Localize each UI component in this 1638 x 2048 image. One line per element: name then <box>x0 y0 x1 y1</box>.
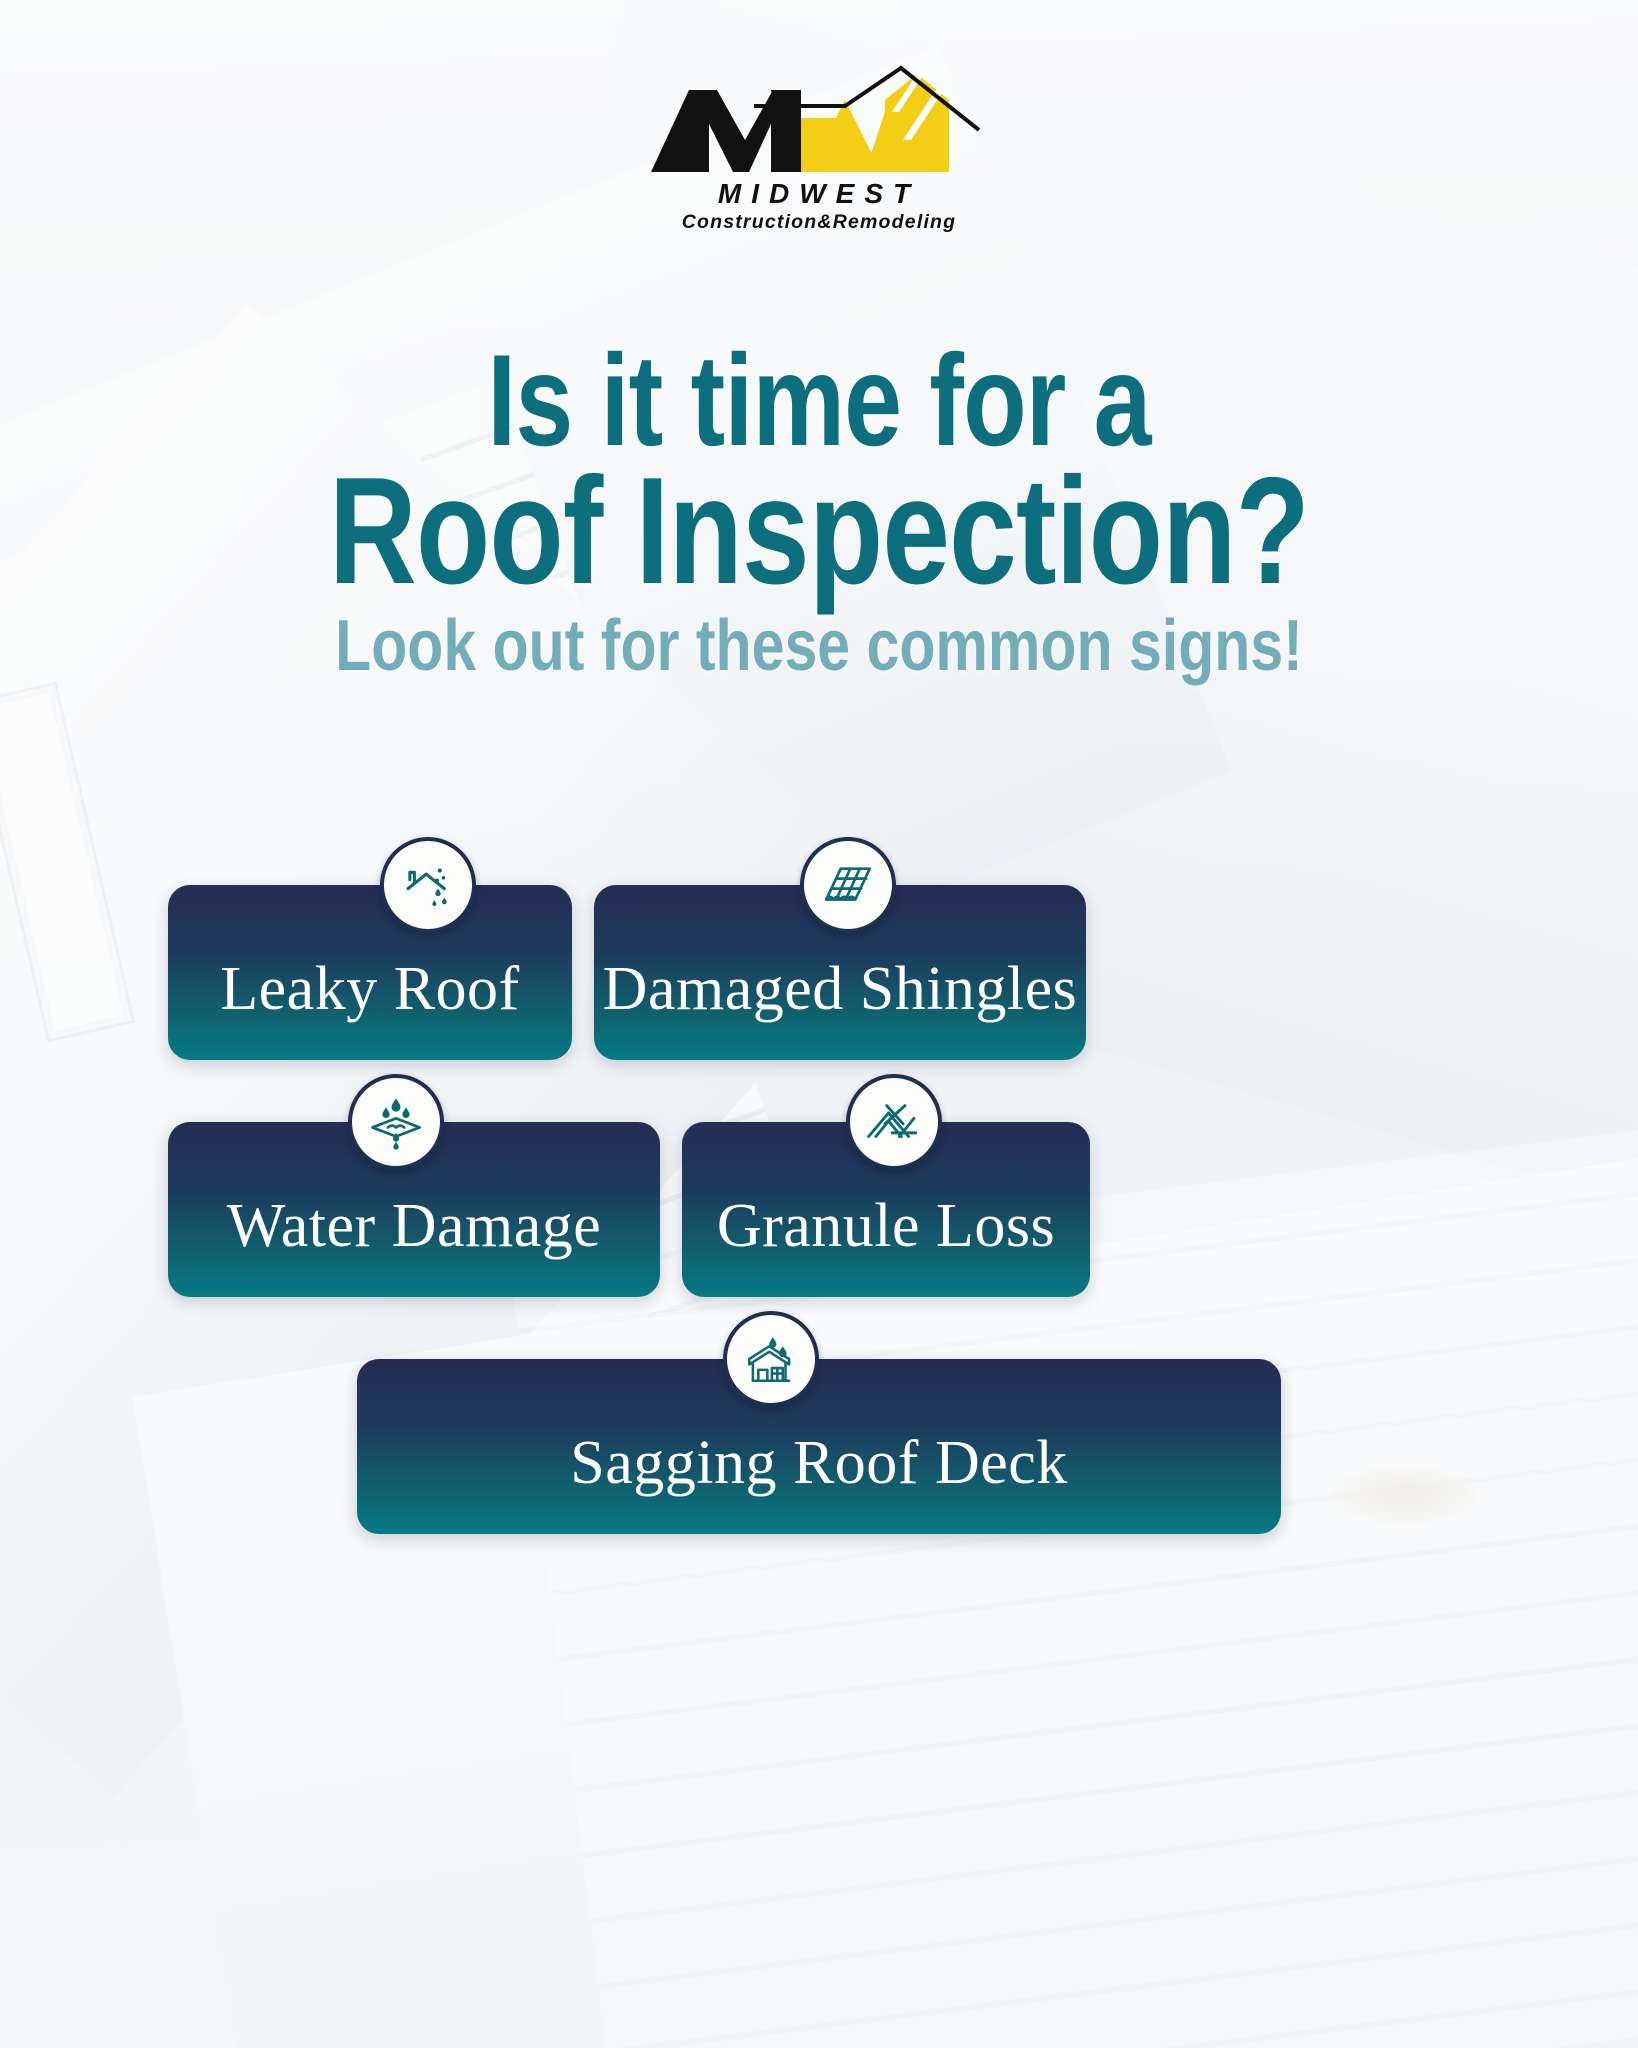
sign-card-label: Water Damage <box>227 1195 602 1297</box>
brand-tagline: Construction&Remodeling <box>682 213 957 233</box>
sign-card-label: Damaged Shingles <box>603 958 1078 1060</box>
signs-row-3: Sagging Roof Deck <box>168 1359 1470 1534</box>
sign-card-label: Granule Loss <box>717 1195 1055 1297</box>
damaged-shingles-icon <box>800 837 896 933</box>
water-damage-icon <box>348 1074 444 1170</box>
granule-loss-icon <box>846 1074 942 1170</box>
mw-house-logo-icon <box>649 62 989 178</box>
signs-grid: Leaky Roof Damaged Shingles <box>168 885 1470 1596</box>
sign-card-granule-loss[interactable]: Granule Loss <box>682 1122 1090 1297</box>
sign-card-label: Leaky Roof <box>220 958 519 1060</box>
headline-subtitle: Look out for these common signs! <box>147 610 1490 682</box>
headline-block: Is it time for a Roof Inspection? Look o… <box>0 340 1638 682</box>
sagging-roof-deck-icon <box>723 1311 819 1407</box>
sign-card-water-damage[interactable]: Water Damage <box>168 1122 660 1297</box>
signs-row-2: Water Damage Granule Loss <box>168 1122 1470 1297</box>
headline-line-2: Roof Inspection? <box>164 461 1474 602</box>
roof-inspection-flyer: MIDWEST Construction&Remodeling Is it ti… <box>0 0 1638 2048</box>
sign-card-leaky-roof[interactable]: Leaky Roof <box>168 885 572 1060</box>
sign-card-sagging-roof-deck[interactable]: Sagging Roof Deck <box>357 1359 1281 1534</box>
brand-logo: MIDWEST Construction&Remodeling <box>0 62 1638 233</box>
leaky-roof-icon <box>380 837 476 933</box>
sign-card-label: Sagging Roof Deck <box>570 1432 1068 1534</box>
brand-name: MIDWEST <box>718 180 920 208</box>
sign-card-damaged-shingles[interactable]: Damaged Shingles <box>594 885 1086 1060</box>
page-title: Is it time for a Roof Inspection? <box>164 340 1474 602</box>
signs-row-1: Leaky Roof Damaged Shingles <box>168 885 1470 1060</box>
